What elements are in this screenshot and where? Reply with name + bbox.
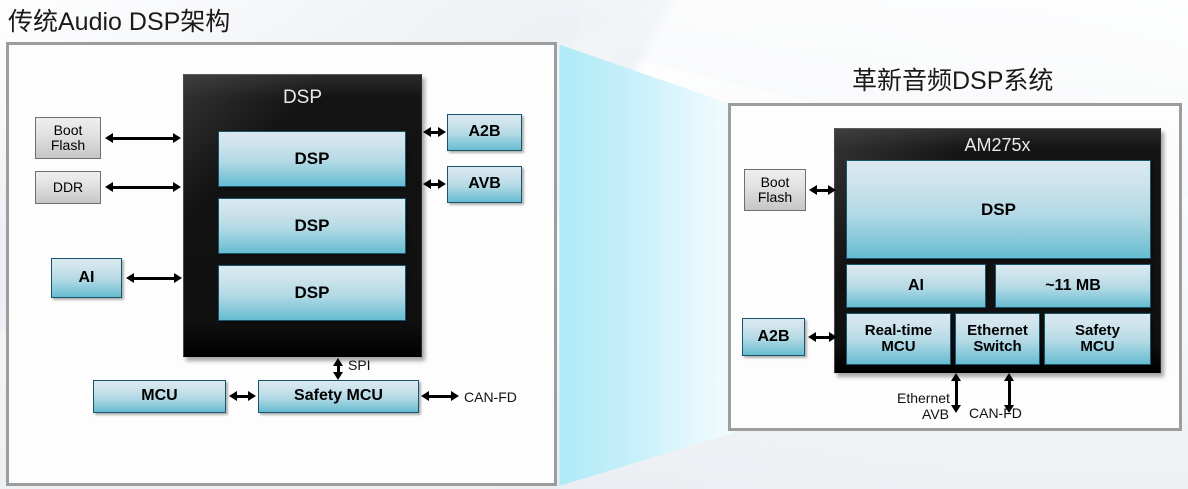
am275x-chip: AM275x DSP AI ~11 MB Real-time MCU Ether… <box>834 128 1161 373</box>
am275x-ethernet-switch-block[interactable]: Ethernet Switch <box>955 313 1040 365</box>
dsp-core-3[interactable]: DSP <box>218 265 406 321</box>
arrow-dsp-safetymcu <box>333 358 344 380</box>
arrow-ethernet-avb <box>951 373 962 413</box>
dsp-chip-label: DSP <box>184 87 421 109</box>
a2b-box[interactable]: A2B <box>447 114 522 151</box>
arrow-safetymcu-canfd <box>421 391 459 402</box>
dsp-chip: DSP DSP DSP DSP <box>183 74 422 357</box>
am275x-realtime-mcu-block[interactable]: Real-time MCU <box>846 313 951 365</box>
spi-label: SPI <box>348 357 371 373</box>
am275x-chip-label: AM275x <box>835 135 1160 156</box>
dsp-core-2[interactable]: DSP <box>218 198 406 254</box>
left-panel-title: 传统Audio DSP架构 <box>8 2 230 38</box>
mcu-box[interactable]: MCU <box>93 380 226 413</box>
arrow-ddr-dsp <box>105 182 181 193</box>
dsp-core-1[interactable]: DSP <box>218 131 406 187</box>
arrow-dsp-avb <box>423 179 446 190</box>
canfd-label-left: CAN-FD <box>464 389 517 405</box>
boot-flash-box[interactable]: Boot Flash <box>35 117 101 159</box>
arrow-bootflash-am275x <box>809 185 836 196</box>
transition-wedge <box>558 40 734 489</box>
a2b-box-right[interactable]: A2B <box>742 318 805 356</box>
arrow-bootflash-dsp <box>105 133 181 144</box>
safety-mcu-box[interactable]: Safety MCU <box>258 380 419 413</box>
right-panel-title: 革新音频DSP系统 <box>852 61 1053 97</box>
new-architecture-panel: AM275x DSP AI ~11 MB Real-time MCU Ether… <box>728 103 1182 431</box>
legacy-architecture-panel: DSP DSP DSP DSP Boot Flash DDR AI A2B AV… <box>6 42 557 486</box>
am275x-dsp-block[interactable]: DSP <box>846 160 1151 259</box>
ai-box[interactable]: AI <box>51 258 122 298</box>
avb-box[interactable]: AVB <box>447 166 522 203</box>
canfd-label-right: CAN-FD <box>969 405 1022 421</box>
am275x-safety-mcu-block[interactable]: Safety MCU <box>1044 313 1151 365</box>
arrow-dsp-a2b <box>423 127 446 138</box>
arrow-mcu-safetymcu <box>229 391 256 402</box>
am275x-ai-block[interactable]: AI <box>846 264 986 308</box>
am275x-memory-block[interactable]: ~11 MB <box>995 264 1151 308</box>
arrow-ai-dsp <box>126 273 182 284</box>
ddr-box[interactable]: DDR <box>35 171 101 204</box>
arrow-a2b-am275x <box>808 332 837 343</box>
ethernet-avb-label: Ethernet AVB <box>897 390 949 422</box>
boot-flash-box-right[interactable]: Boot Flash <box>744 169 806 211</box>
